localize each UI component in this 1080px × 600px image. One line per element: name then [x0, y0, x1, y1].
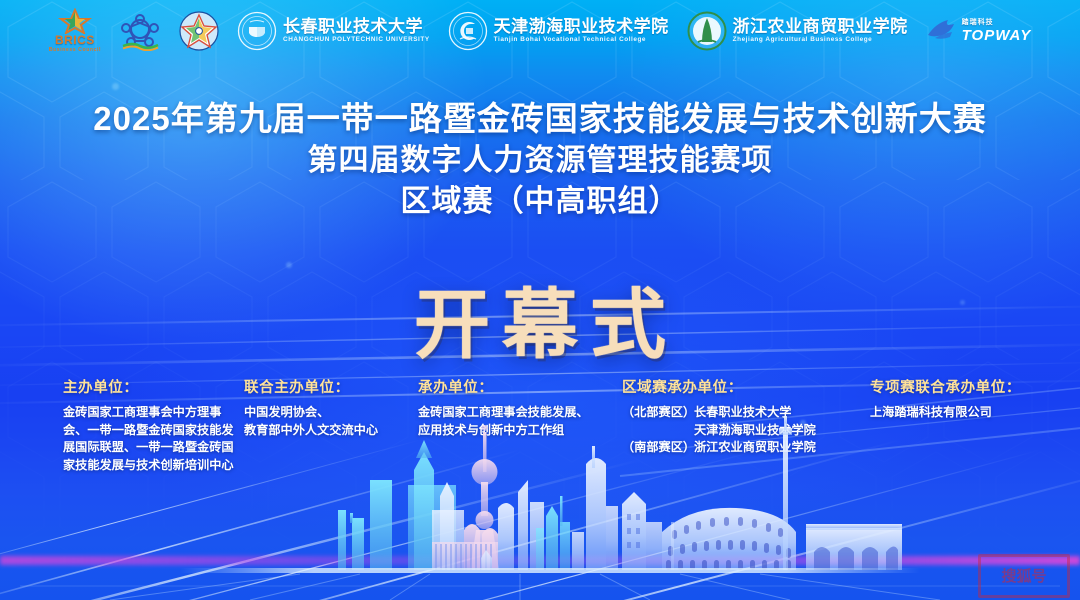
region-north-second: 天津渤海职业技术学院 [622, 422, 852, 440]
headline-opening-ceremony: 开幕式 [0, 263, 1080, 373]
organizer-body: （北部赛区） 长春职业技术大学 天津渤海职业技术学院 （南部赛区） 浙江农业商贸… [622, 404, 852, 457]
logo-topway: 踏瑞科技 TOPWAY [926, 18, 1032, 44]
bokeh-dot [112, 83, 119, 90]
arched-arcade [806, 524, 902, 570]
organizer-heading: 联合主办单位： [244, 378, 420, 398]
region-tag: （北部赛区） [622, 404, 688, 422]
title-line-3: 区域赛（中高职组） [0, 181, 1080, 222]
organizer-line: 金砖国家工商理事会技能发展、 [418, 404, 614, 422]
organizer-line: 应用技术与创新中方工作组 [418, 422, 614, 440]
logo-zhejiang-cn: 浙江农业商贸职业学院 [733, 18, 908, 35]
colosseum [662, 508, 796, 570]
organizer-body: 上海踏瑞科技有限公司 [870, 404, 1070, 422]
title-line-2: 第四届数字人力资源管理技能赛项 [0, 140, 1080, 181]
organizer-body: 金砖国家工商理事会中方理事会、一带一路暨金砖国家技能发展国际联盟、一带一路暨金砖… [63, 404, 239, 474]
logo-tianjin-en: Tianjin Bohai Vocational Technical Colle… [494, 37, 669, 43]
organizer-block-cohost: 联合主办单位： 中国发明协会、 教育部中外人文交流中心 [244, 378, 420, 439]
logo-zhejiang-agricultural-business-college: 浙江农业商贸职业学院 Zhejiang Agricultural Busines… [687, 11, 908, 51]
logo-changchun-en: CHANGCHUN POLYTECHNIC UNIVERSITY [283, 37, 430, 43]
topway-bird-icon [926, 18, 956, 44]
sponsor-logo-bar: BRICS Business Council [0, 0, 1080, 62]
title-line-1: 2025年第九届一带一路暨金砖国家技能发展与技术创新大赛 [0, 98, 1080, 140]
organizer-heading: 专项赛联合承办单位： [870, 378, 1070, 398]
organizer-line: 金砖国家工商理事会中方理事会、一带一路暨金砖国家技能发展国际联盟、一带一路暨金砖… [63, 404, 239, 474]
organizer-block-organizer: 承办单位： 金砖国家工商理事会技能发展、 应用技术与创新中方工作组 [418, 378, 614, 439]
region-tag: （南部赛区） [622, 439, 688, 457]
logo-tianjin-cn: 天津渤海职业技术学院 [494, 18, 669, 35]
organizer-line: 中国发明协会、 [244, 404, 420, 422]
region-tag-spacer [622, 422, 688, 440]
organizer-columns: 主办单位： 金砖国家工商理事会中方理事会、一带一路暨金砖国家技能发展国际联盟、一… [0, 378, 1080, 498]
organizer-block-host: 主办单位： 金砖国家工商理事会中方理事会、一带一路暨金砖国家技能发展国际联盟、一… [63, 378, 239, 474]
changchun-university-crest-icon [237, 11, 277, 51]
zhejiang-college-crest-icon [687, 11, 727, 51]
organizer-heading: 区域赛承办单位： [622, 378, 852, 398]
region-south: （南部赛区） 浙江农业商贸职业学院 [622, 439, 852, 457]
magenta-light-band [0, 556, 1080, 565]
logo-brics-cn: BRICS [55, 34, 95, 46]
tianjin-bohai-crest-icon [448, 11, 488, 51]
organizer-body: 中国发明协会、 教育部中外人文交流中心 [244, 404, 420, 439]
region-school: 长春职业技术大学 [694, 404, 792, 422]
watermark-text: 搜狐号 [1001, 568, 1046, 585]
logo-tianjin-bohai-vocational-technical-college: 天津渤海职业技术学院 Tianjin Bohai Vocational Tech… [448, 11, 669, 51]
logo-brics-business-council: BRICS Business Council [49, 8, 101, 53]
brics-network-emblem-icon [119, 11, 161, 51]
logo-changchun-cn: 长春职业技术大学 [283, 18, 430, 35]
region-school: 浙江农业商贸职业学院 [694, 439, 816, 457]
organizer-heading: 承办单位： [418, 378, 614, 398]
organizer-line: 上海踏瑞科技有限公司 [870, 404, 1070, 422]
logo-brics-en: Business Council [49, 48, 101, 53]
logo-topway-cn: 踏瑞科技 [962, 19, 1032, 26]
organizer-line: 教育部中外人文交流中心 [244, 422, 420, 440]
region-school: 天津渤海职业技术学院 [694, 422, 816, 440]
logo-zhejiang-en: Zhejiang Agricultural Business College [733, 37, 908, 43]
region-north: （北部赛区） 长春职业技术大学 [622, 404, 852, 422]
belt-and-road-emblem-icon [179, 11, 219, 51]
logo-changchun-polytechnic-university: 长春职业技术大学 CHANGCHUN POLYTECHNIC UNIVERSIT… [237, 11, 430, 51]
event-titles: 2025年第九届一带一路暨金砖国家技能发展与技术创新大赛 第四届数字人力资源管理… [0, 98, 1080, 222]
brics-star-icon [58, 8, 92, 34]
organizer-block-special: 专项赛联合承办单位： 上海踏瑞科技有限公司 [870, 378, 1070, 422]
banner-stage: BRICS Business Council [0, 0, 1080, 600]
organizer-block-regional: 区域赛承办单位： （北部赛区） 长春职业技术大学 天津渤海职业技术学院 （南部赛… [622, 378, 852, 457]
source-watermark: 搜狐号 [978, 554, 1070, 598]
organizer-heading: 主办单位： [63, 378, 239, 398]
logo-topway-en: TOPWAY [962, 28, 1032, 43]
organizer-body: 金砖国家工商理事会技能发展、 应用技术与创新中方工作组 [418, 404, 614, 439]
